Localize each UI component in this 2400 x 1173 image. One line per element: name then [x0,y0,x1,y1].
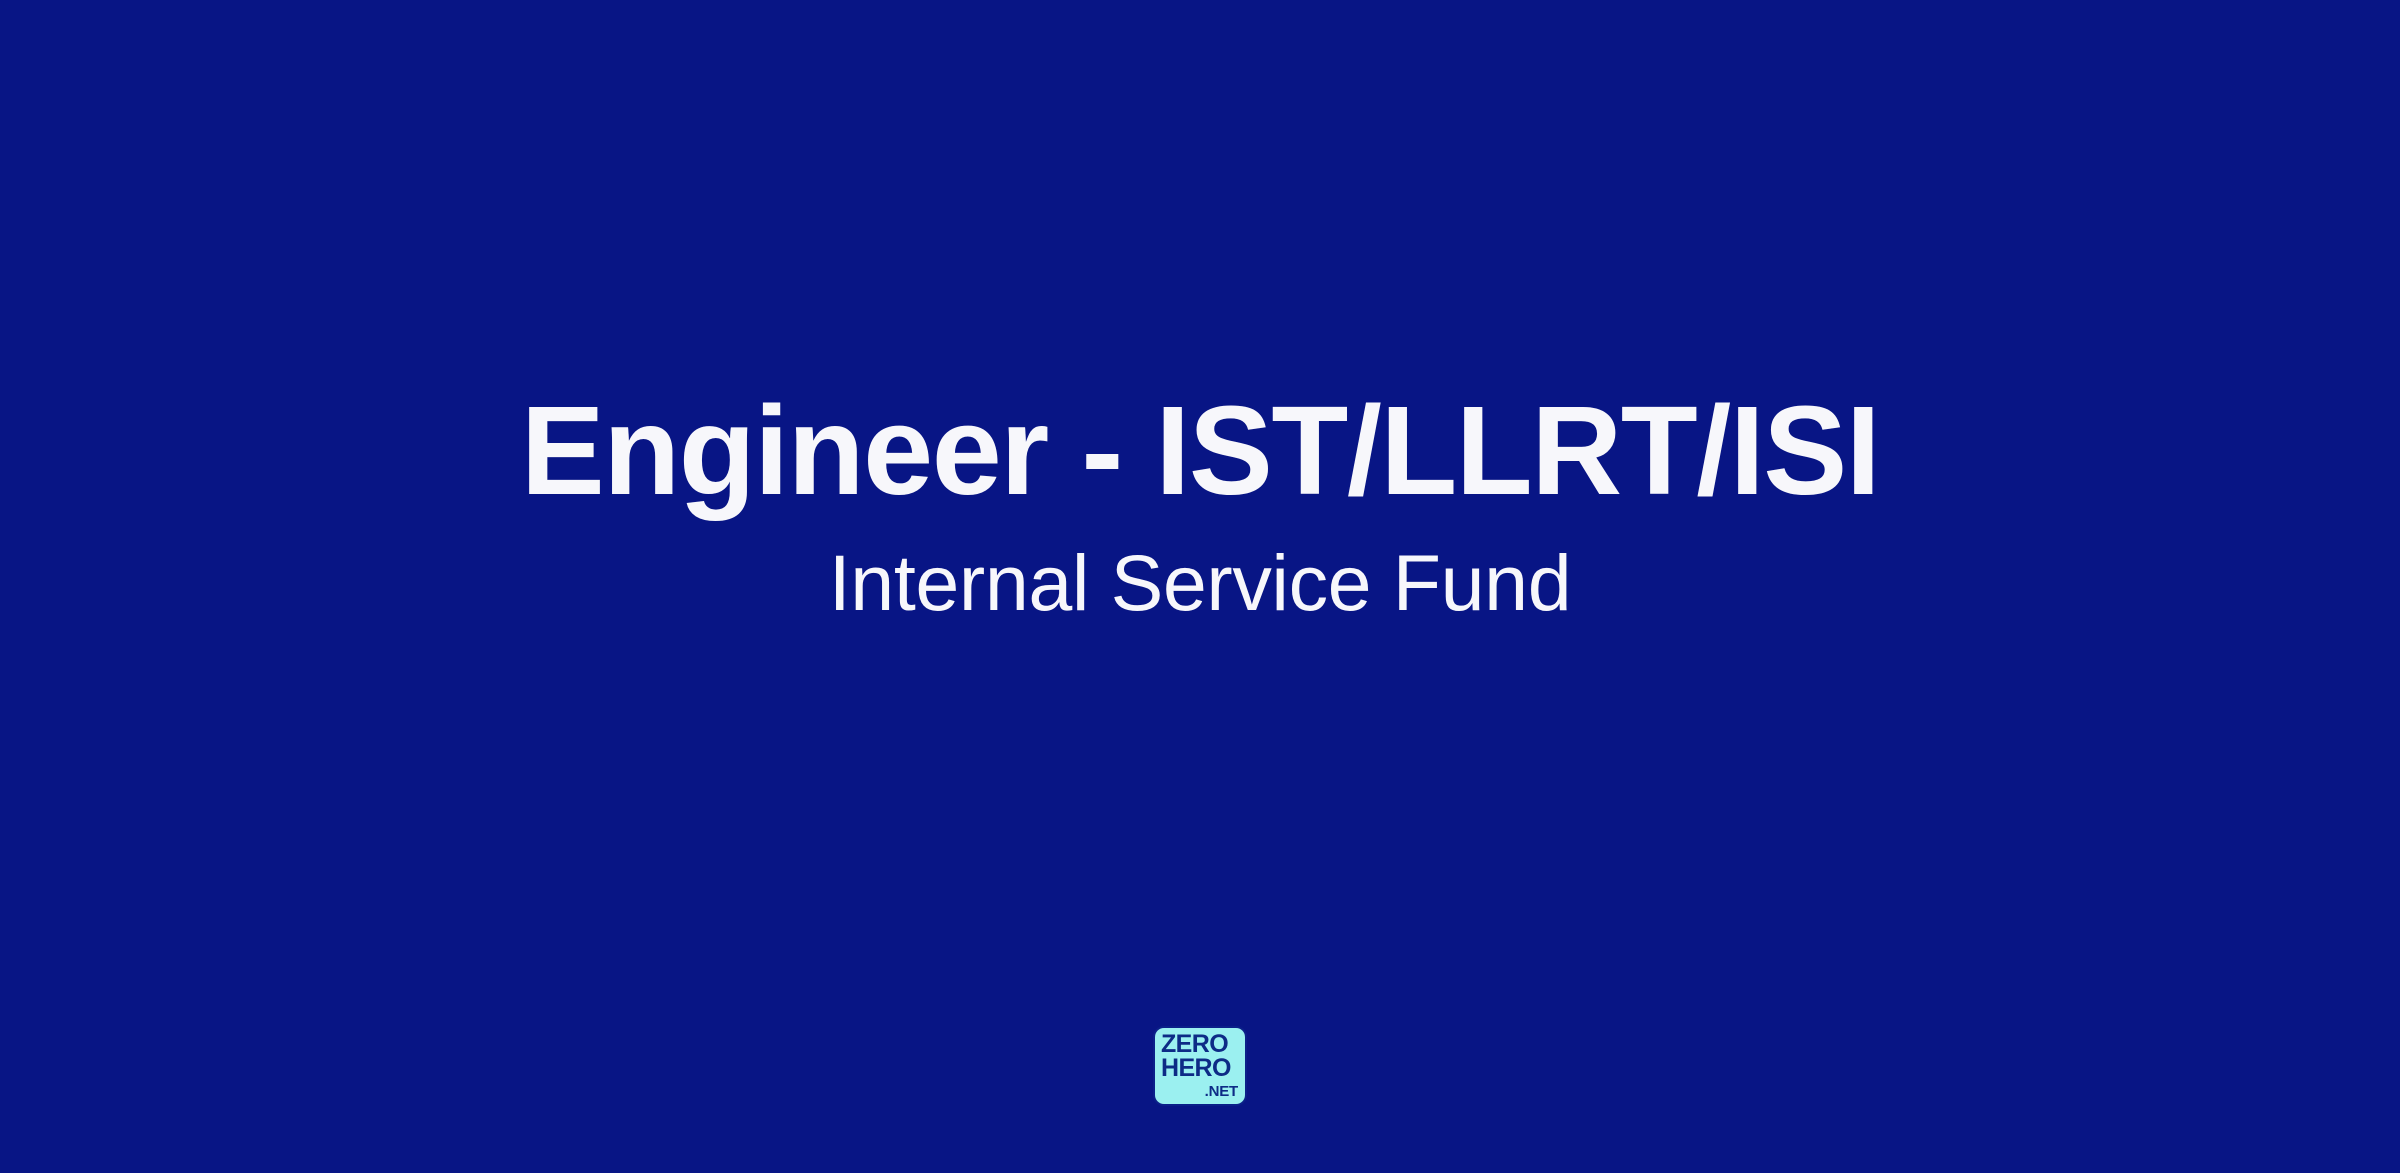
footer-logo-area: ZERO HERO .NET [0,1028,2400,1104]
page-title: Engineer - IST/LLRT/ISI [521,384,1880,518]
logo-line-hero: HERO [1161,1057,1240,1081]
zerohero-logo: ZERO HERO .NET [1155,1028,1245,1104]
logo-tld-net: .NET [1161,1084,1240,1099]
title-block: Engineer - IST/LLRT/ISI Internal Service… [0,384,2400,629]
page-subtitle: Internal Service Fund [829,536,1572,629]
title-slide: Engineer - IST/LLRT/ISI Internal Service… [0,0,2400,1173]
logo-line-zero: ZERO [1161,1033,1240,1057]
